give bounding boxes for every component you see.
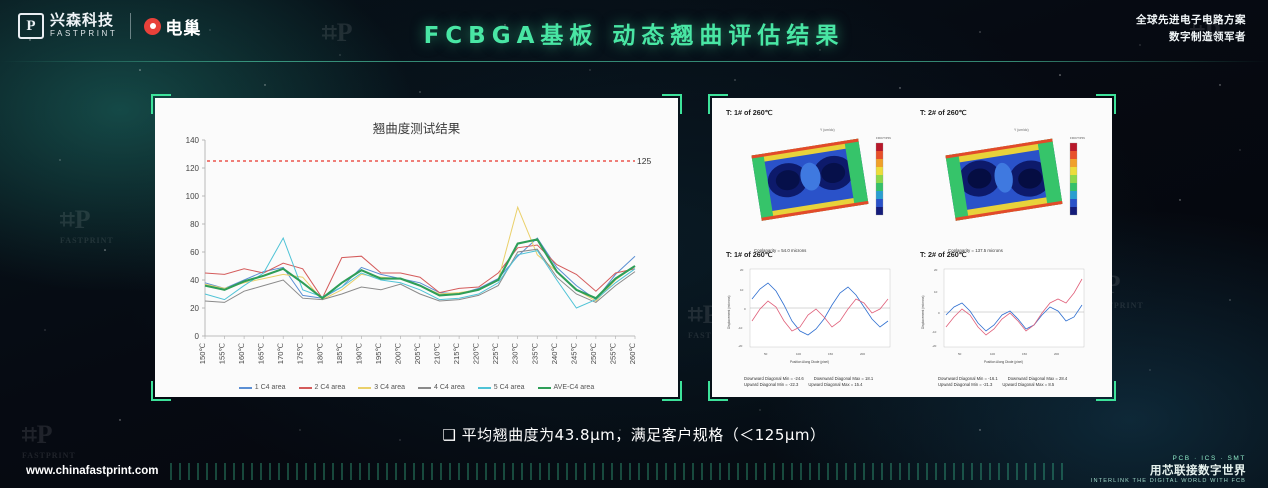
footer-hatch-decoration bbox=[170, 463, 1070, 480]
header-slogan-line1: 全球先进电子电路方案 bbox=[1136, 12, 1246, 29]
x-axis-tick-label: 220℃ bbox=[472, 343, 481, 365]
panel-corner bbox=[708, 381, 728, 401]
x-axis-tick-label: 245℃ bbox=[569, 343, 578, 365]
x-axis-tick-label: 180℃ bbox=[315, 343, 324, 365]
svg-text:150: 150 bbox=[828, 352, 833, 356]
legend-item[interactable]: 1 C4 area bbox=[239, 384, 286, 391]
x-axis-tick-label: 260℃ bbox=[628, 343, 637, 365]
x-axis-tick-label: 195℃ bbox=[374, 343, 383, 365]
header-divider bbox=[0, 61, 1268, 62]
svg-text:-20: -20 bbox=[932, 344, 937, 348]
legend-swatch bbox=[538, 387, 551, 389]
svg-text:100: 100 bbox=[990, 352, 995, 356]
stat: Upward Diagonal Max = 15.4 bbox=[808, 382, 862, 388]
quadrant-3-profile: T: 1# of 260℃ 20100 -10-20 50100150200 P… bbox=[720, 250, 912, 392]
quadrant-4-ylabel: Displacement (microns) bbox=[921, 296, 925, 329]
x-axis-tick-label: 185℃ bbox=[335, 343, 344, 365]
footer-tagline: PCB · ICS · SMT 用芯联接数字世界 INTERLINK THE D… bbox=[1091, 455, 1246, 484]
svg-text:-10: -10 bbox=[738, 326, 743, 330]
quadrant-3-xlabel: Position Along Diode (pixel) bbox=[790, 360, 829, 364]
legend-item[interactable]: 2 C4 area bbox=[299, 384, 346, 391]
svg-text:0: 0 bbox=[744, 307, 746, 311]
x-axis-tick-label: 160℃ bbox=[237, 343, 246, 365]
quadrant-2-label: T: 2# of 260℃ bbox=[920, 108, 1106, 117]
legend-swatch bbox=[358, 387, 371, 389]
warpage-chart-panel: 翘曲度测试结果 020406080100120140150℃155℃160℃16… bbox=[155, 98, 678, 397]
svg-text:0: 0 bbox=[938, 311, 940, 315]
panel-corner bbox=[151, 381, 171, 401]
quadrant-4-stats: Downward Diagonal Min = -16.1 Downward D… bbox=[938, 376, 1106, 388]
legend-swatch bbox=[299, 387, 312, 389]
y-axis-tick-label: 100 bbox=[186, 192, 200, 201]
stat: Upward Diagonal Max = 8.5 bbox=[1002, 382, 1054, 388]
panel-corner bbox=[1096, 94, 1116, 114]
legend-label: 1 C4 area bbox=[255, 384, 286, 391]
x-axis-tick-label: 200℃ bbox=[393, 343, 402, 365]
svg-text:-10: -10 bbox=[932, 330, 937, 334]
x-axis-tick-label: 210℃ bbox=[433, 343, 442, 365]
chart-legend: 1 C4 area2 C4 area3 C4 area4 C4 area5 C4… bbox=[155, 384, 678, 391]
legend-label: 2 C4 area bbox=[315, 384, 346, 391]
svg-text:20: 20 bbox=[934, 268, 938, 272]
svg-text:10: 10 bbox=[740, 288, 744, 292]
x-axis-tick-label: 155℃ bbox=[218, 343, 227, 365]
y-axis-tick-label: 60 bbox=[190, 248, 199, 257]
legend-item[interactable]: 3 C4 area bbox=[358, 384, 405, 391]
header-slogan-line2: 数字制造领军者 bbox=[1136, 29, 1246, 46]
x-axis-tick-label: 240℃ bbox=[550, 343, 559, 365]
legend-swatch bbox=[418, 387, 431, 389]
spec-limit-label: 125 bbox=[637, 156, 651, 166]
series-line bbox=[205, 249, 635, 302]
svg-text:10: 10 bbox=[934, 290, 938, 294]
panel-corner bbox=[662, 381, 682, 401]
x-axis-tick-label: 165℃ bbox=[257, 343, 266, 365]
colorbar-title: FRO/T/PIN bbox=[1070, 136, 1085, 140]
svg-text:-20: -20 bbox=[738, 344, 743, 348]
legend-item[interactable]: 4 C4 area bbox=[418, 384, 465, 391]
legend-item[interactable]: 5 C4 area bbox=[478, 384, 525, 391]
axis-note: Y (um/dc) bbox=[820, 128, 835, 132]
x-axis-tick-label: 190℃ bbox=[354, 343, 363, 365]
quadrant-3-ylabel: Displacement (microns) bbox=[727, 296, 731, 329]
y-axis-tick-label: 40 bbox=[190, 276, 199, 285]
quadrant-3-label: T: 1# of 260℃ bbox=[726, 250, 912, 259]
x-axis-tick-label: 150℃ bbox=[198, 343, 207, 365]
chart-title: 翘曲度测试结果 bbox=[155, 118, 678, 137]
footer-tag-small: PCB · ICS · SMT bbox=[1091, 455, 1246, 462]
panel-corner bbox=[1096, 381, 1116, 401]
x-axis-tick-label: 215℃ bbox=[452, 343, 461, 365]
slide-header: P 兴森科技 FASTPRINT 电巢 FCBGA基板 动态翘曲评估结果 全球先… bbox=[0, 0, 1268, 62]
shadow-moire-panel: T: 1# of 260℃ Y (um/dc) bbox=[712, 98, 1112, 397]
warpage-line-chart: 020406080100120140150℃155℃160℃165℃170℃17… bbox=[155, 98, 678, 397]
x-axis-tick-label: 225℃ bbox=[491, 343, 500, 365]
stat: Upward Diagonal Min = -21.3 bbox=[938, 382, 992, 388]
series-line bbox=[205, 238, 635, 300]
series-line bbox=[205, 207, 635, 301]
footer-tag-cn: 用芯联接数字世界 bbox=[1091, 462, 1246, 478]
svg-text:50: 50 bbox=[764, 352, 768, 356]
x-axis-tick-label: 175℃ bbox=[296, 343, 305, 365]
svg-text:200: 200 bbox=[1054, 352, 1059, 356]
svg-text:50: 50 bbox=[958, 352, 962, 356]
slide-footer: www.chinafastprint.com PCB · ICS · SMT 用… bbox=[0, 455, 1268, 488]
legend-label: AVE-C4 area bbox=[554, 384, 595, 391]
quadrant-4-profile: T: 2# of 260℃ 20100 -10-20 50100150200 P… bbox=[914, 250, 1106, 392]
quadrant-4-label: T: 2# of 260℃ bbox=[920, 250, 1106, 259]
x-axis-tick-label: 230℃ bbox=[511, 343, 520, 365]
x-axis-tick-label: 255℃ bbox=[608, 343, 617, 365]
legend-label: 5 C4 area bbox=[494, 384, 525, 391]
quadrant-3-chart: 20100 -10-20 50100150200 Position Along … bbox=[720, 259, 912, 371]
legend-label: 4 C4 area bbox=[434, 384, 465, 391]
quadrant-2-map: T: 2# of 260℃ Y (um/dc) bbox=[914, 108, 1106, 248]
panel-corner bbox=[662, 94, 682, 114]
legend-swatch bbox=[239, 387, 252, 389]
x-axis-tick-label: 250℃ bbox=[589, 343, 598, 365]
quadrant-4-xlabel: Position Along Diode (pixel) bbox=[984, 360, 1023, 364]
svg-text:200: 200 bbox=[860, 352, 865, 356]
x-axis-tick-label: 235℃ bbox=[530, 343, 539, 365]
summary-caption: ❑ 平均翘曲度为43.8μm，满足客户规格（＜125μm） bbox=[0, 424, 1268, 445]
footer-tag-en: INTERLINK THE DIGITAL WORLD WITH FCB bbox=[1091, 478, 1246, 484]
quadrant-1-surface: Y (um/dc) bbox=[720, 117, 912, 243]
axis-note: Y (um/dc) bbox=[1014, 128, 1029, 132]
x-axis-tick-label: 205℃ bbox=[413, 343, 422, 365]
header-slogan: 全球先进电子电路方案 数字制造领军者 bbox=[1136, 12, 1246, 46]
y-axis-tick-label: 120 bbox=[186, 164, 200, 173]
page-title: FCBGA基板 动态翘曲评估结果 bbox=[0, 16, 1268, 50]
quadrant-4-chart: 20100 -10-20 50100150200 Position Along … bbox=[914, 259, 1106, 371]
footer-website[interactable]: www.chinafastprint.com bbox=[26, 465, 158, 477]
y-axis-tick-label: 20 bbox=[190, 304, 199, 313]
quadrant-1-map: T: 1# of 260℃ Y (um/dc) bbox=[720, 108, 912, 248]
panel-corner bbox=[151, 94, 171, 114]
x-axis-tick-label: 170℃ bbox=[276, 343, 285, 365]
svg-text:20: 20 bbox=[740, 268, 744, 272]
y-axis-tick-label: 80 bbox=[190, 220, 199, 229]
svg-text:150: 150 bbox=[1022, 352, 1027, 356]
y-axis-tick-label: 140 bbox=[186, 136, 200, 145]
colorbar-title: FRO/T/PIN bbox=[876, 136, 891, 140]
quadrant-1-label: T: 1# of 260℃ bbox=[726, 108, 912, 117]
stat: Upward Diagonal Min = -22.3 bbox=[744, 382, 798, 388]
legend-item[interactable]: AVE-C4 area bbox=[538, 384, 595, 391]
quadrant-3-stats: Downward Diagonal Min = -24.6 Downward D… bbox=[744, 376, 912, 388]
quadrant-2-surface: Y (um/dc) FRO/T/PIN bbox=[914, 117, 1106, 243]
y-axis-tick-label: 0 bbox=[195, 332, 200, 341]
svg-text:100: 100 bbox=[796, 352, 801, 356]
legend-label: 3 C4 area bbox=[374, 384, 405, 391]
legend-swatch bbox=[478, 387, 491, 389]
panel-corner bbox=[708, 94, 728, 114]
